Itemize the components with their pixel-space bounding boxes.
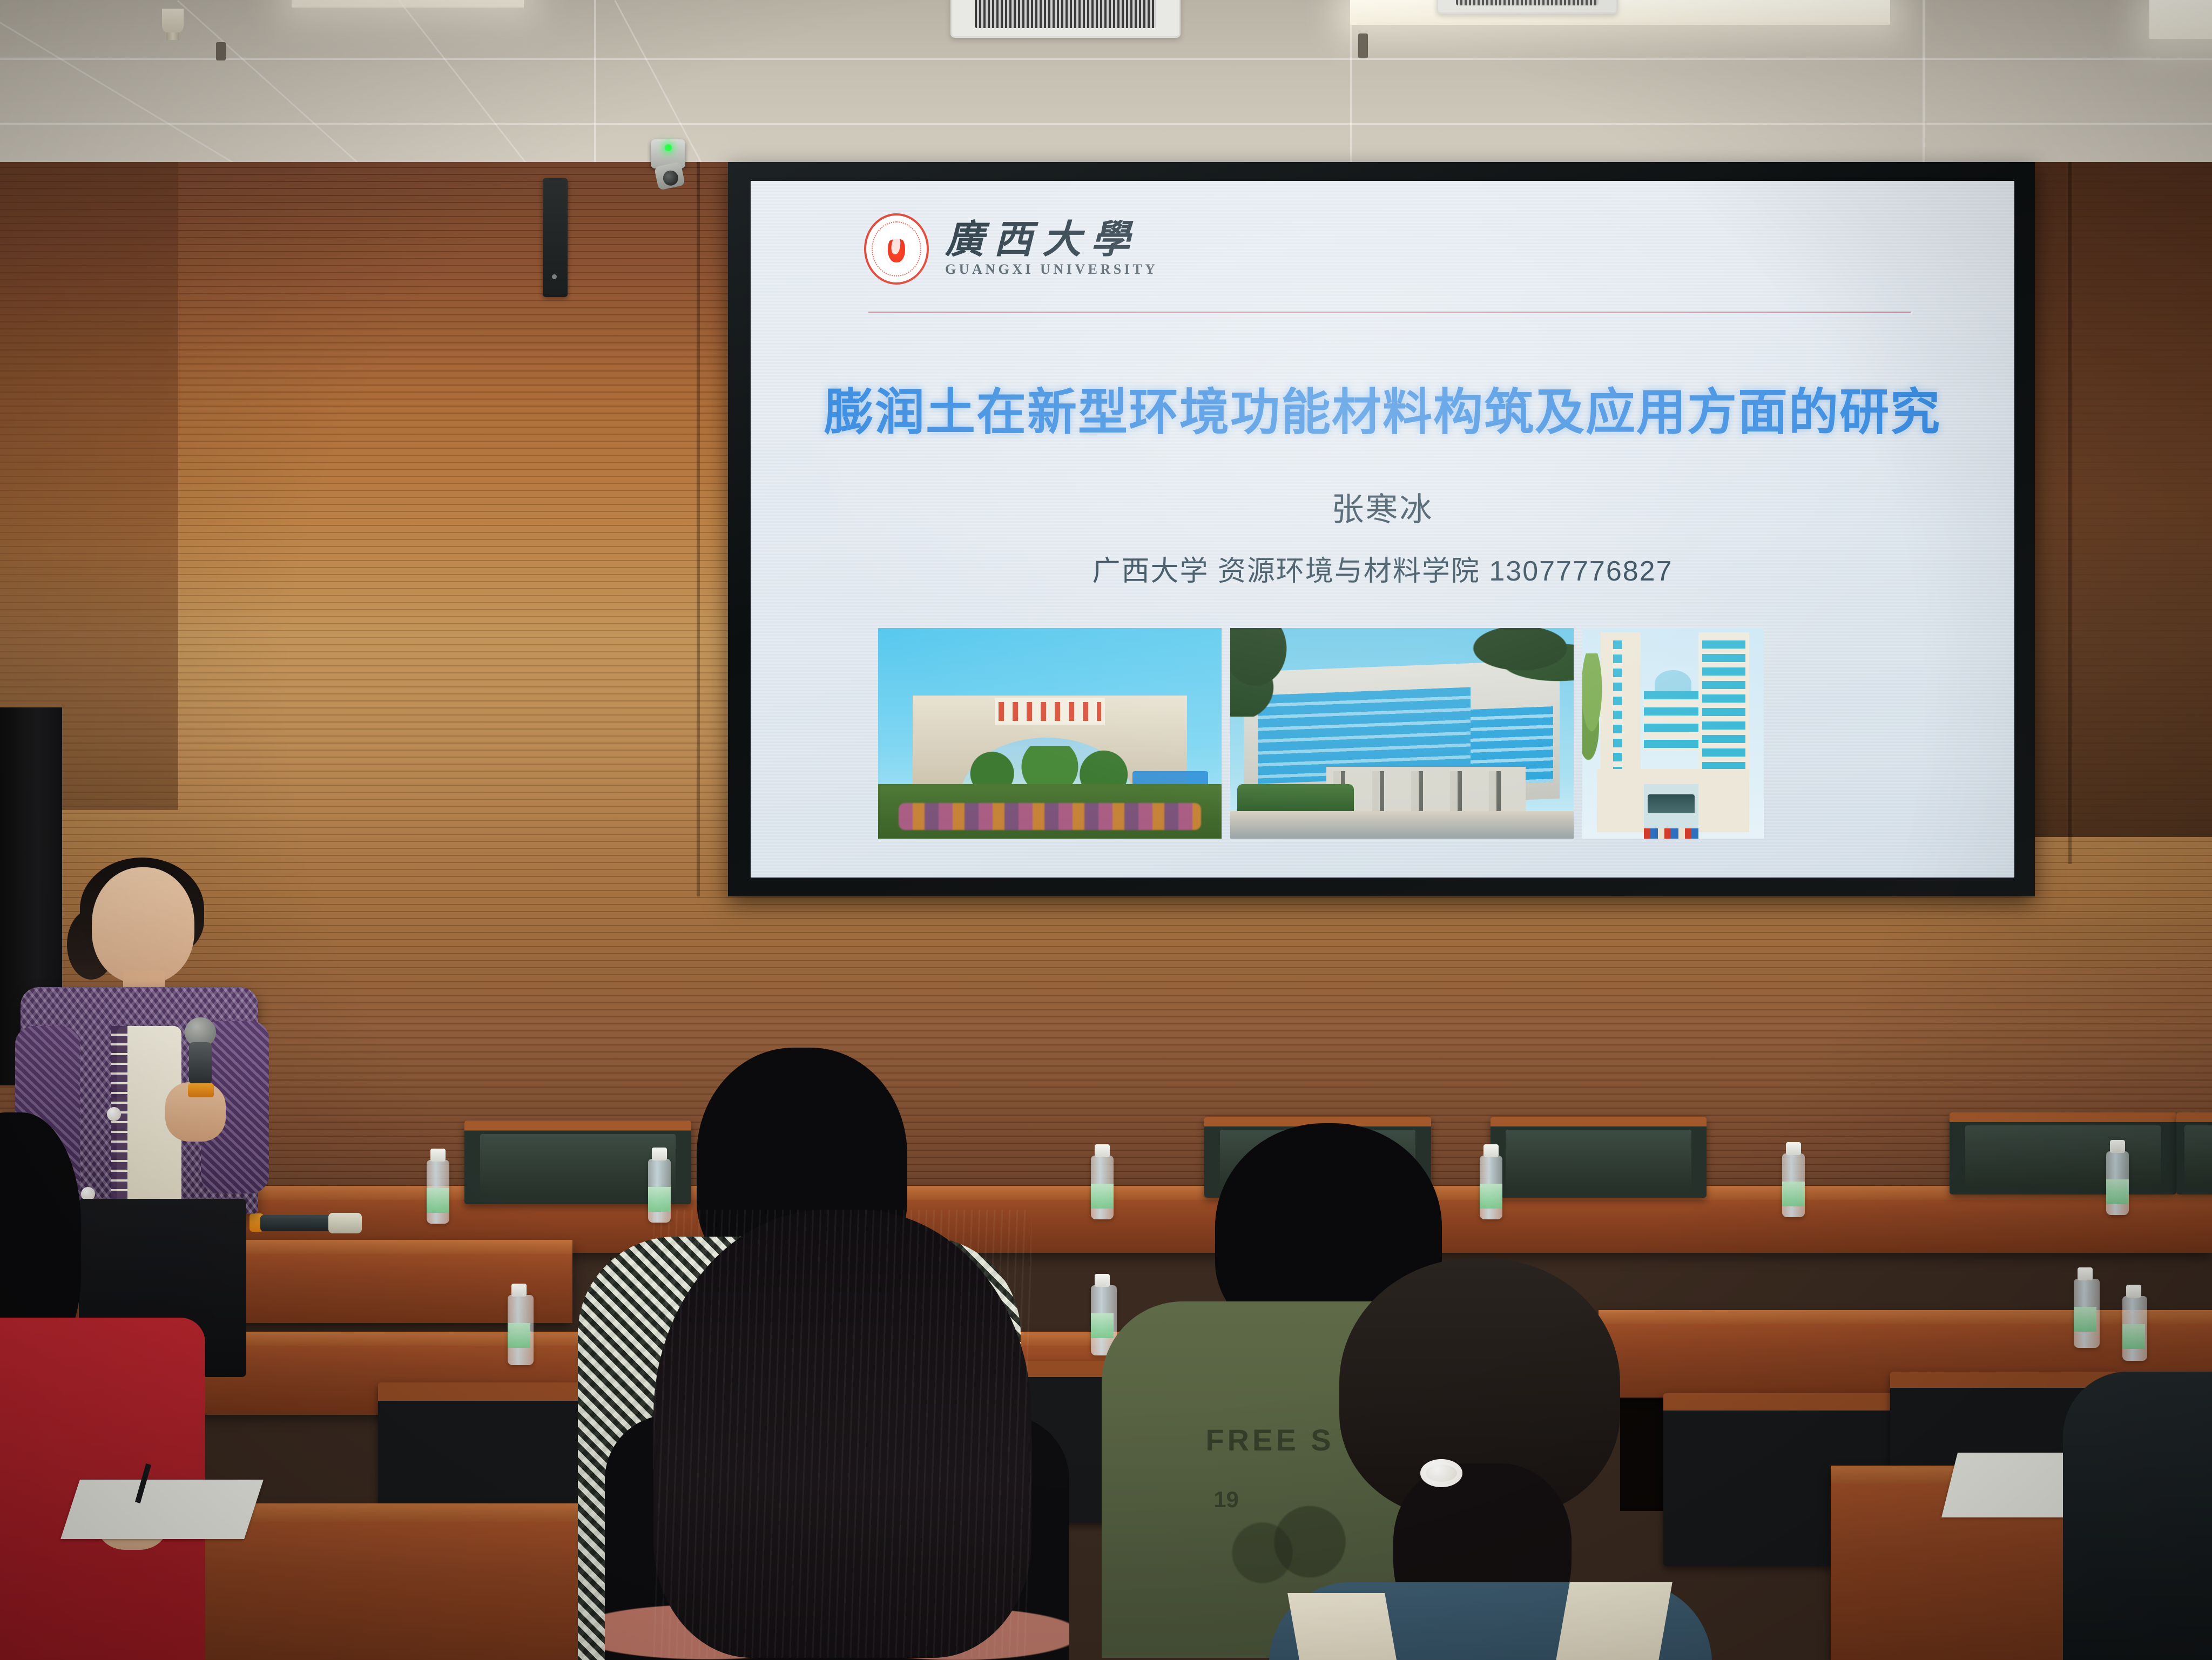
vent-grille-icon bbox=[975, 0, 1156, 28]
wall-panel-seam bbox=[2068, 162, 2072, 864]
smoke-detector-icon bbox=[216, 42, 226, 60]
header-divider bbox=[868, 312, 1911, 313]
bottle-label bbox=[1782, 1182, 1805, 1206]
window-strip bbox=[1613, 640, 1622, 779]
photo-academic-building bbox=[1230, 628, 1574, 839]
bottle-cap bbox=[511, 1284, 527, 1297]
ceiling-light bbox=[292, 0, 524, 8]
fire-sprinkler-icon bbox=[162, 9, 184, 33]
water-bottle bbox=[2106, 1151, 2129, 1215]
bottle-label bbox=[2074, 1307, 2096, 1332]
building-middle-block bbox=[1644, 691, 1702, 750]
bottle-label bbox=[427, 1188, 449, 1213]
foreground-foliage bbox=[1230, 628, 1313, 717]
bottle-cap bbox=[430, 1149, 446, 1162]
ceiling-air-conditioner bbox=[1437, 0, 1618, 14]
chair bbox=[1491, 1117, 1707, 1198]
smoke-detector-icon bbox=[1358, 33, 1368, 58]
university-seal-icon bbox=[864, 213, 929, 285]
note-paper bbox=[60, 1480, 264, 1539]
camera-led-indicator bbox=[665, 144, 672, 151]
conference-room-photo: 廣西大學 GUANGXI UNIVERSITY 膨润土在新型环境功能材料构筑及应… bbox=[0, 0, 2212, 1660]
bottle-cap bbox=[2078, 1267, 2093, 1280]
attendee-hair bbox=[653, 1210, 1031, 1658]
attendee-ponytail bbox=[1258, 1258, 1734, 1660]
ceiling-light bbox=[2149, 0, 2212, 39]
slide-photo-row bbox=[878, 628, 1764, 839]
chair-cushion bbox=[1965, 1125, 2160, 1186]
attendee-dark-coat-body bbox=[2063, 1372, 2212, 1660]
hair-scrunchie bbox=[1420, 1459, 1462, 1487]
microphone-body bbox=[189, 1042, 212, 1084]
attendee-long-hair bbox=[589, 1210, 1085, 1660]
plaza-ground bbox=[1230, 811, 1574, 839]
chair bbox=[1950, 1112, 2176, 1195]
vent-grille-icon bbox=[1456, 0, 1599, 5]
microphone-band bbox=[188, 1083, 214, 1097]
presenter-microphone bbox=[183, 1017, 217, 1104]
bottle-cap bbox=[2126, 1285, 2141, 1298]
ceiling-seam bbox=[0, 123, 2212, 125]
gate-characters bbox=[999, 702, 1102, 721]
bottle-label bbox=[2122, 1324, 2145, 1349]
bottle-cap bbox=[1786, 1142, 1801, 1155]
window-grid bbox=[1702, 640, 1746, 779]
attendee-red-coat bbox=[0, 1112, 221, 1660]
portico-columns bbox=[1333, 771, 1519, 813]
university-name-en: GUANGXI UNIVERSITY bbox=[945, 261, 1158, 278]
wall-speaker-icon bbox=[543, 178, 568, 297]
water-bottle bbox=[2122, 1296, 2147, 1361]
ceiling-seam bbox=[594, 0, 596, 178]
chair bbox=[2176, 1112, 2212, 1195]
university-name-cn: 廣西大學 bbox=[945, 220, 1158, 259]
bottle-cap bbox=[2110, 1140, 2125, 1153]
seal-flame-icon bbox=[885, 232, 908, 266]
bottle-label bbox=[508, 1323, 530, 1348]
water-bottle bbox=[1782, 1153, 1805, 1217]
slide-affiliation: 广西大学 资源环境与材料学院 13077776827 bbox=[751, 548, 2014, 589]
entrance-banner bbox=[1644, 828, 1698, 839]
water-bottle bbox=[508, 1295, 534, 1365]
university-wordmark: 廣西大學 GUANGXI UNIVERSITY bbox=[945, 220, 1158, 278]
collar bbox=[1552, 1582, 1673, 1660]
ceiling-seam bbox=[1923, 0, 1925, 162]
slide-author: 张寒冰 bbox=[751, 483, 2014, 530]
university-logo: 廣西大學 GUANGXI UNIVERSITY bbox=[864, 213, 1158, 285]
flower-bed bbox=[899, 803, 1201, 831]
presenter-head bbox=[92, 867, 194, 983]
foreground-foliage bbox=[1429, 628, 1574, 691]
projection-screen: 廣西大學 GUANGXI UNIVERSITY 膨润土在新型环境功能材料构筑及应… bbox=[751, 181, 2014, 878]
bottle-label bbox=[2106, 1179, 2129, 1204]
photo-campus-gate bbox=[878, 628, 1222, 839]
tree bbox=[1582, 653, 1611, 771]
security-camera-icon bbox=[651, 139, 685, 168]
water-bottle bbox=[2074, 1279, 2100, 1348]
ceiling-air-conditioner bbox=[950, 0, 1181, 38]
collar bbox=[1287, 1593, 1402, 1660]
chair-cushion bbox=[2184, 1125, 2212, 1186]
slide-title: 膨润土在新型环境功能材料构筑及应用方面的研究 bbox=[751, 386, 2014, 440]
chair-cushion bbox=[1506, 1130, 1691, 1190]
entrance-canopy bbox=[1648, 794, 1695, 813]
photo-college-tower bbox=[1582, 628, 1764, 839]
microphone-head bbox=[328, 1213, 362, 1233]
attendee-dark-coat bbox=[2063, 1372, 2212, 1660]
water-bottle bbox=[427, 1160, 449, 1224]
ceiling-seam bbox=[0, 58, 2212, 60]
ceiling-light bbox=[1350, 0, 1890, 25]
wall-panel-seam bbox=[697, 162, 700, 896]
